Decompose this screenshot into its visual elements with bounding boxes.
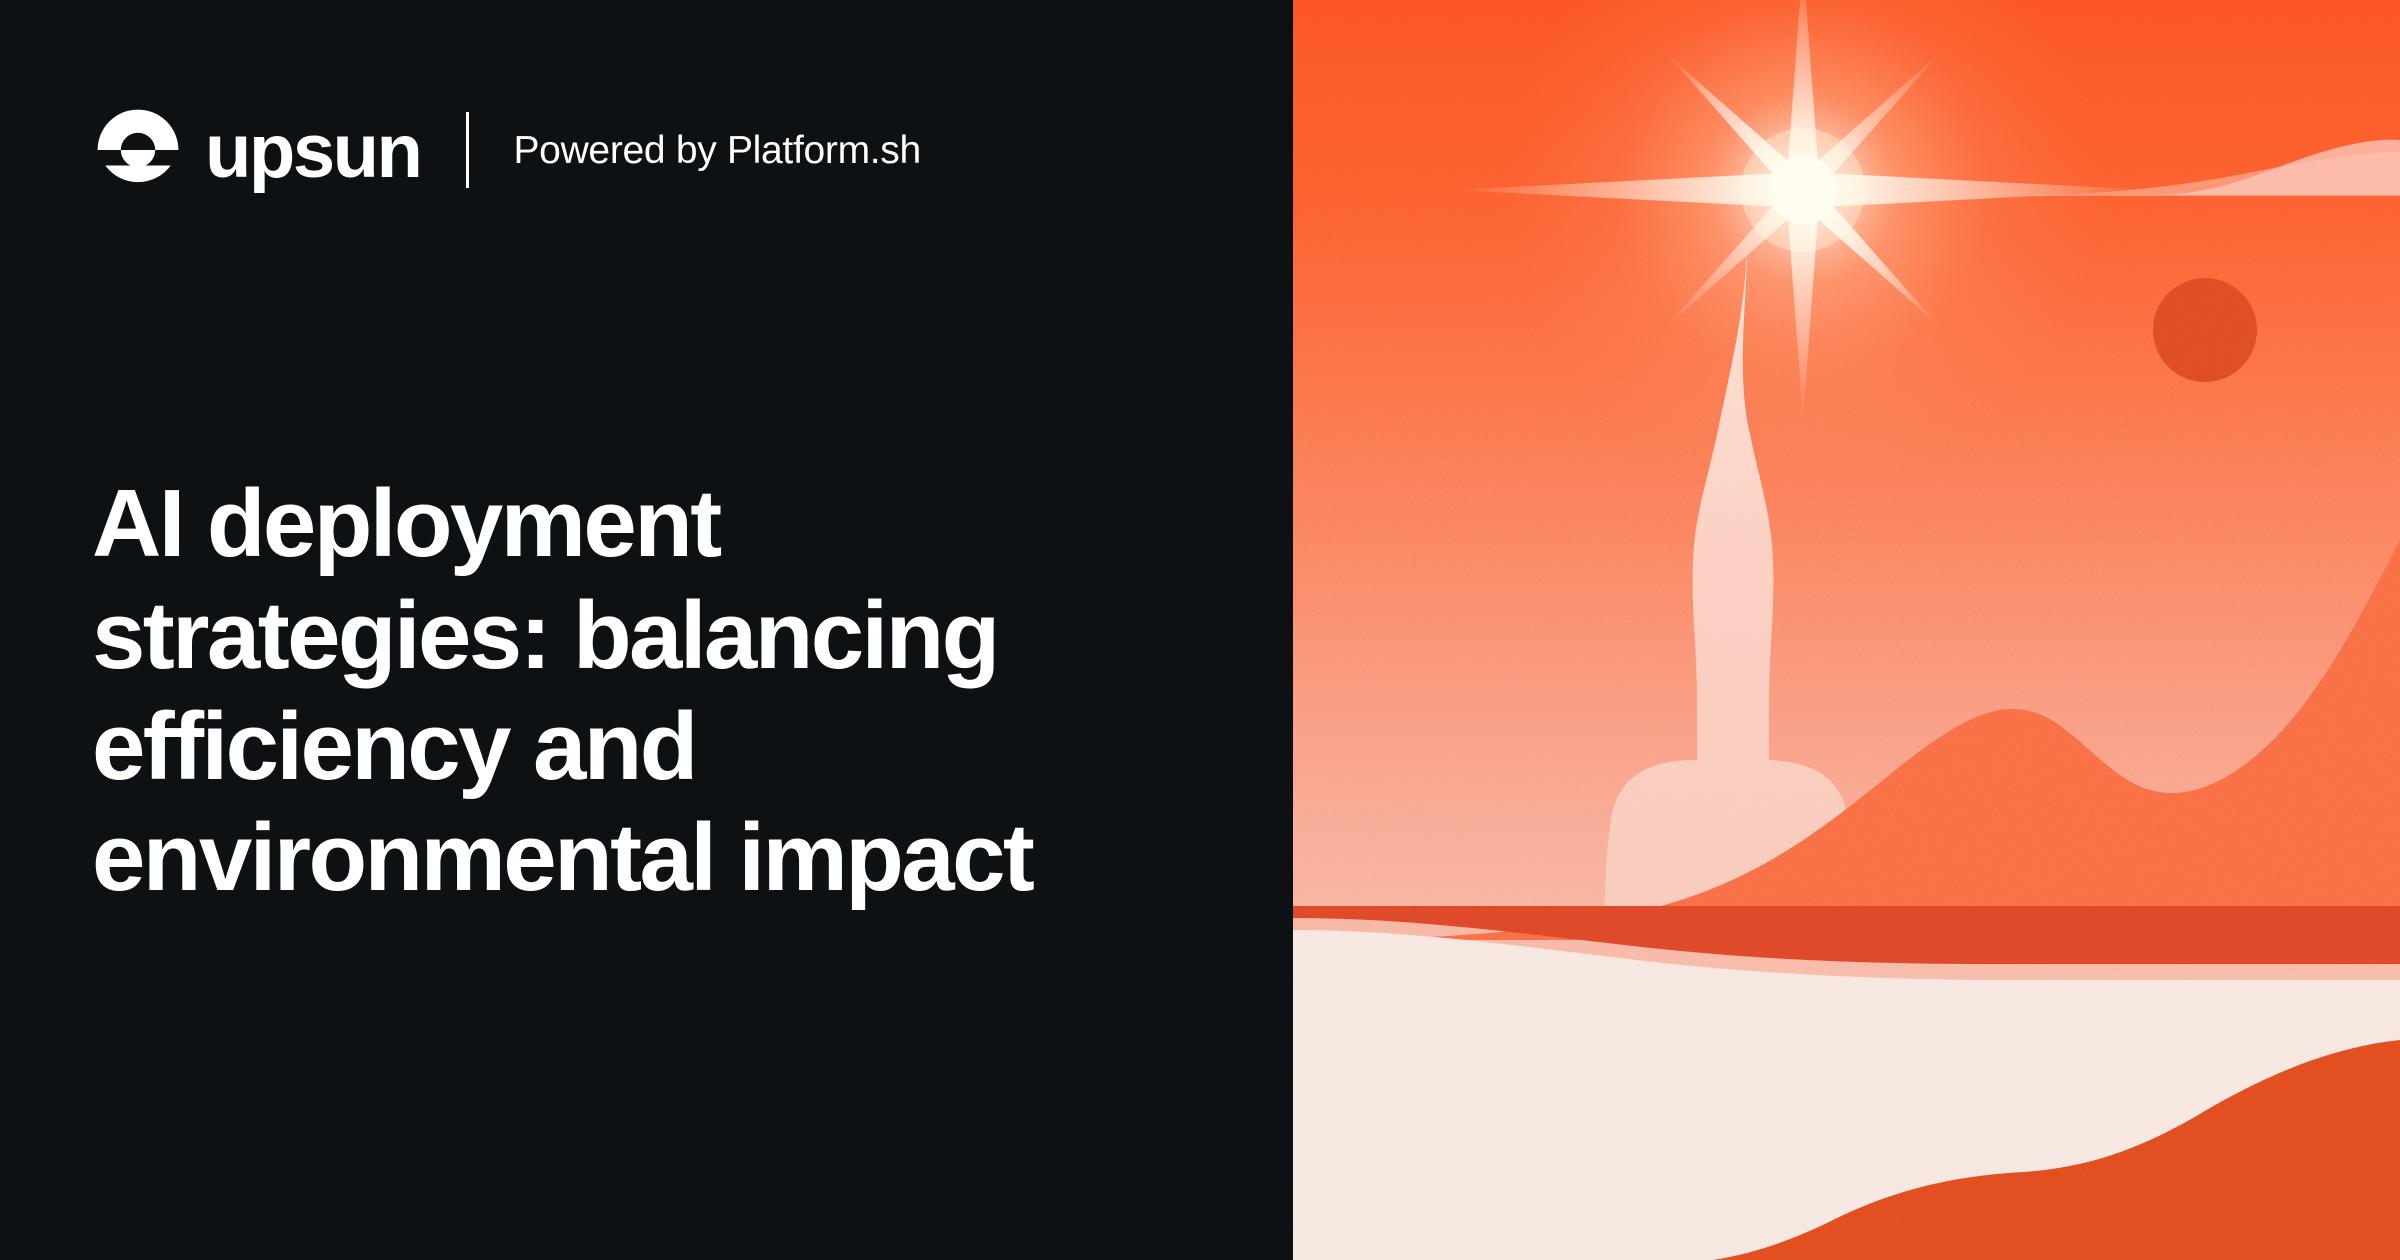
artwork-panel [1293,0,2400,1260]
headline-line-2: strategies: balancing [92,580,1232,691]
content-panel: upsun Powered by Platform.sh AI deployme… [0,0,1293,1260]
sun-core-glow [1741,128,1865,252]
desert-sunrise-illustration [1293,0,2400,1260]
page-title: AI deployment strategies: balancing effi… [92,468,1232,913]
headline-line-3: efficiency and [92,691,1232,802]
social-card: upsun Powered by Platform.sh AI deployme… [0,0,2400,1260]
sun-disc-icon [2153,278,2257,382]
headline-line-1: AI deployment [92,468,1232,579]
vertical-divider-icon [466,112,469,188]
upsun-wordmark: upsun [205,114,420,190]
powered-by-tagline: Powered by Platform.sh [513,131,920,170]
brand-lockup: upsun Powered by Platform.sh [95,104,921,196]
upsun-logo-icon [95,107,181,193]
headline-line-4: environmental impact [92,802,1232,913]
